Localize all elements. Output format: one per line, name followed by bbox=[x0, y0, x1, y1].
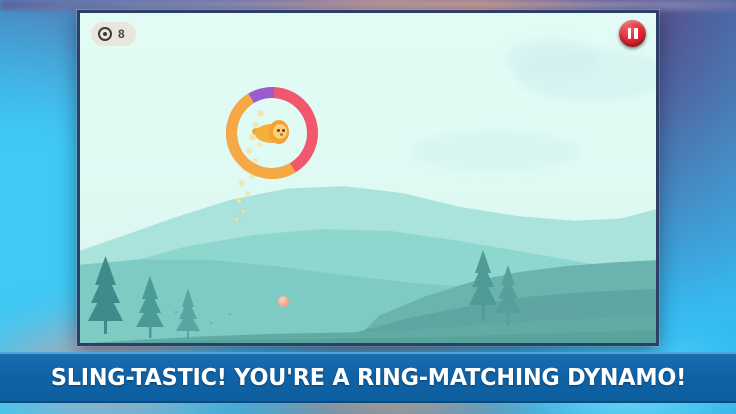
cloud-shape bbox=[506, 39, 596, 77]
character-face bbox=[273, 124, 287, 139]
loose-ball bbox=[278, 296, 289, 307]
ring-puzzle[interactable] bbox=[226, 87, 318, 179]
ring-target-icon bbox=[98, 27, 112, 41]
lion-character bbox=[255, 120, 289, 146]
character-eye-left bbox=[277, 129, 280, 132]
game-scene: 8 bbox=[80, 13, 656, 343]
game-screen-frame: 8 bbox=[77, 10, 659, 346]
backdrop-top-strip bbox=[0, 0, 736, 10]
score-value: 8 bbox=[118, 28, 125, 40]
trail-particle bbox=[246, 192, 249, 195]
character-eye-right bbox=[282, 129, 285, 132]
score-badge: 8 bbox=[91, 22, 136, 46]
trail-particle bbox=[242, 210, 245, 213]
pause-button[interactable] bbox=[619, 20, 646, 47]
caption-text: SLING-TASTIC! YOU'RE A RING-MATCHING DYN… bbox=[50, 365, 685, 391]
character-nose bbox=[280, 133, 283, 136]
pause-icon bbox=[628, 28, 632, 39]
promo-screenshot-root: 8 SLING-TASTIC! YOU'RE A RING-MATCHING D… bbox=[0, 0, 736, 414]
trail-particle bbox=[237, 199, 241, 203]
trail-particle bbox=[235, 218, 238, 221]
pause-icon bbox=[634, 28, 638, 39]
trail-particle bbox=[240, 181, 244, 185]
cloud-shape bbox=[410, 131, 580, 171]
caption-banner: SLING-TASTIC! YOU'RE A RING-MATCHING DYN… bbox=[0, 352, 736, 403]
